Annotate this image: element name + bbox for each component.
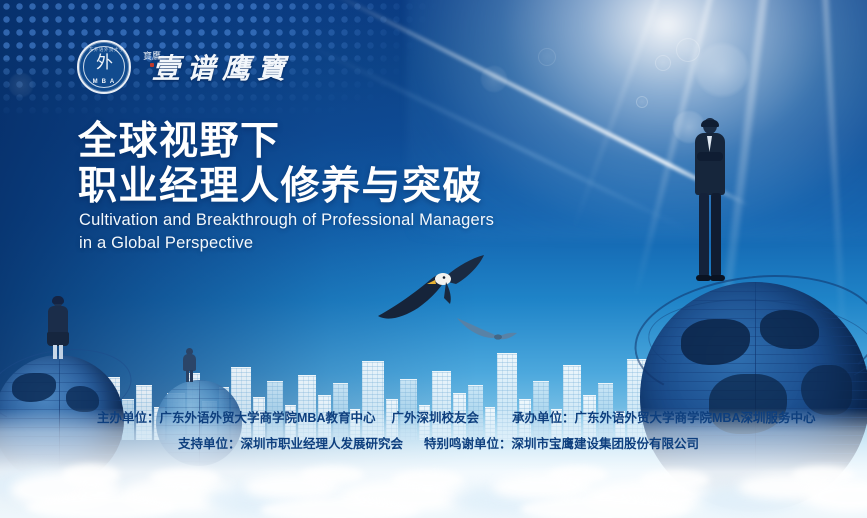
emblem-mba-text: M B A <box>79 79 129 85</box>
page-title-line2: 职业经理人修养与突破 <box>78 165 483 209</box>
mba-emblem-logo: 广东外语外贸大学 外 M B A <box>77 40 131 94</box>
bokeh-circle <box>538 48 556 66</box>
businesswoman-silhouette <box>44 296 72 360</box>
credit-thanks-label: 特别鸣谢单位： <box>424 437 512 451</box>
subtitle-line2: in a Global Perspective <box>79 232 253 255</box>
credit-thanks-value: 深圳市宝鹰建设集团股份有限公司 <box>512 437 700 451</box>
credit-organizer: 承办单位：广东外语外贸大学商学院MBA深圳服务中心 <box>512 412 815 425</box>
brand-calligraphy: 壹谱鹰寶 <box>152 47 292 87</box>
person-on-small-globe <box>180 348 198 384</box>
businessman-silhouette <box>688 118 732 286</box>
subtitle-line1: Cultivation and Breakthrough of Professi… <box>79 209 494 232</box>
credit-support: 支持单位：深圳市职业经理人发展研究会 <box>178 438 403 451</box>
bokeh-circle <box>8 72 34 98</box>
emblem-monogram: 外 <box>79 54 129 71</box>
bokeh-circle <box>655 55 671 71</box>
credit-host-value: 广东外语外贸大学商学院MBA教育中心 <box>160 411 376 425</box>
event-poster: 广东外语外贸大学 外 M B A 寶鷹 壹谱鹰寶 全球视野下 职业经理人修养与突… <box>0 0 867 518</box>
bokeh-circle <box>694 42 750 98</box>
page-title-line1: 全球视野下 <box>78 120 281 164</box>
bokeh-circle <box>636 96 648 108</box>
credits-block: 主办单位：广东外语外贸大学商学院MBA教育中心广外深圳校友会 承办单位：广东外语… <box>0 409 867 467</box>
bokeh-circle <box>480 65 508 93</box>
credit-organizer-label: 承办单位： <box>512 411 575 425</box>
credit-host: 主办单位：广东外语外贸大学商学院MBA教育中心广外深圳校友会 <box>97 412 479 425</box>
credit-host-value2: 广外深圳校友会 <box>391 411 479 425</box>
bokeh-circle <box>676 38 700 62</box>
credit-support-label: 支持单位： <box>178 437 241 451</box>
credit-support-value: 深圳市职业经理人发展研究会 <box>241 437 404 451</box>
credit-organizer-value: 广东外语外贸大学商学院MBA深圳服务中心 <box>575 411 816 425</box>
credit-host-label: 主办单位： <box>97 411 160 425</box>
eagle-small-icon <box>455 312 519 346</box>
credit-thanks: 特别鸣谢单位：深圳市宝鹰建设集团股份有限公司 <box>424 438 699 451</box>
